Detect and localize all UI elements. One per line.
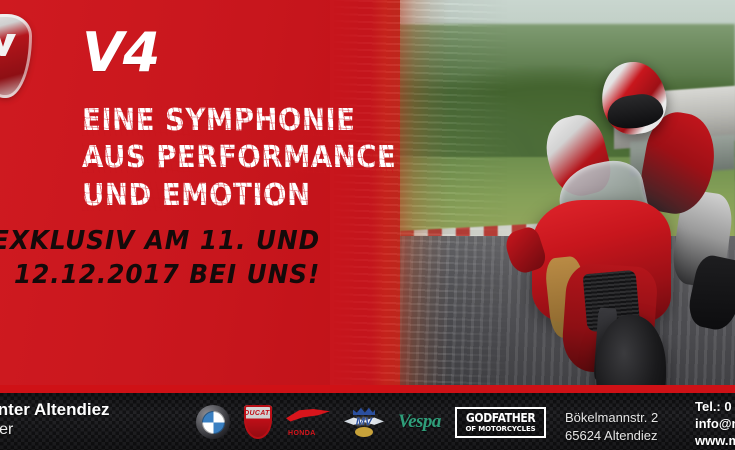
- honda-wordmark: HONDA: [288, 430, 316, 437]
- godfather-line-2: OF MOTORCYCLES: [462, 426, 539, 433]
- ducati-panigale-v4-with-rider: [484, 55, 735, 393]
- page-title: V4: [82, 26, 159, 80]
- dealer-address: Bökelmannstr. 2 65624 Altendiez: [565, 409, 658, 445]
- bmw-roundel-quadrants: [202, 411, 225, 434]
- mv-wordmark: MV: [356, 416, 373, 428]
- vespa-logo-icon: Vespa: [398, 411, 441, 433]
- dealer-name: d-Center Altendiez händler: [0, 400, 110, 440]
- bmw-motorrad-logo-icon: [196, 405, 230, 439]
- contact-email[interactable]: info@mca: [695, 415, 735, 432]
- headline-line-2: AUS PERFORMANCE: [82, 143, 396, 173]
- contact-phone: Tel.: 0: [695, 398, 735, 415]
- dealer-name-line-1: d-Center Altendiez: [0, 400, 110, 420]
- godfather-line-1: GODFATHER: [466, 412, 536, 424]
- honda-wing-shape: [286, 409, 330, 425]
- headline-line-3: UND EMOTION: [82, 181, 311, 211]
- ducati-wordmark: DUCATI: [244, 410, 272, 417]
- dealer-name-line-2: händler: [0, 420, 110, 440]
- godfather-of-motorcycles-logo: GODFATHER OF MOTORCYCLES: [455, 407, 546, 438]
- ducati-v4-promo-banner: V4 EINE SYMPHONIE AUS PERFORMANCE UND EM…: [0, 0, 735, 450]
- mv-agusta-logo-icon: MV: [344, 407, 384, 437]
- red-divider: [0, 385, 735, 393]
- honda-logo-icon: HONDA: [286, 407, 330, 437]
- event-date-line-2: 12.12.2017 BEI UNS!: [14, 262, 320, 288]
- mv-gear-shape: [355, 427, 373, 437]
- address-street: Bökelmannstr. 2: [565, 409, 658, 427]
- dealer-contact: Tel.: 0 info@mca www.mca: [695, 398, 735, 449]
- ducati-logo-icon: DUCATI: [244, 405, 272, 439]
- brand-logo-strip: DUCATI HONDA MV Vespa GODFATHER OF MOTOR…: [196, 399, 546, 445]
- mv-crown-shape: [353, 407, 375, 415]
- front-tire: [596, 315, 665, 393]
- motion-blur-streaks: [330, 0, 510, 393]
- contact-website[interactable]: www.mca: [695, 432, 735, 449]
- address-city: 65624 Altendiez: [565, 427, 658, 445]
- event-date-line-1: EXKLUSIV AM 11. UND: [0, 228, 320, 254]
- headline-line-1: EINE SYMPHONIE: [82, 106, 355, 136]
